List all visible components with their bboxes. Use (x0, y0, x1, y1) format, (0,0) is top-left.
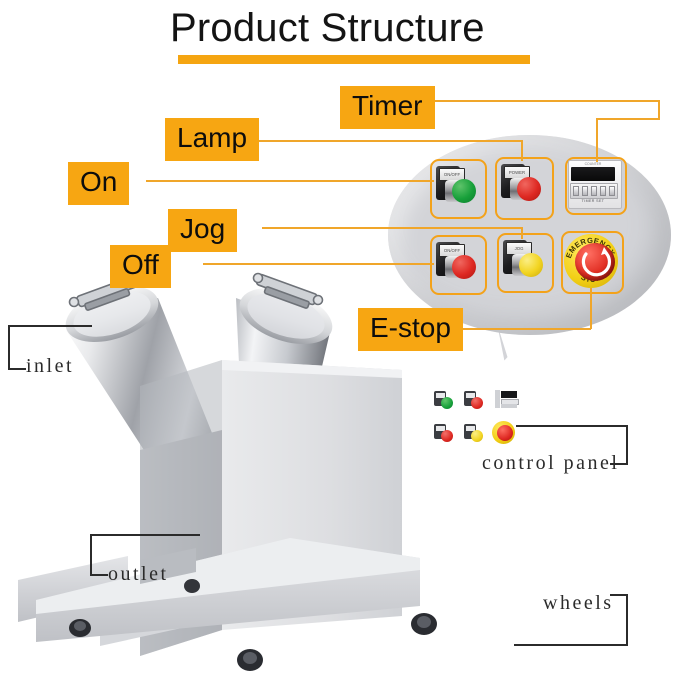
lamp-button-cap[interactable] (517, 177, 541, 201)
page-title: Product Structure (170, 6, 590, 51)
timer-led-screen (571, 167, 615, 181)
panel-green-button[interactable] (434, 390, 456, 412)
label-control-panel: control panel (482, 452, 619, 475)
off-button[interactable]: ON/OFF (434, 238, 480, 286)
panel-timer-display[interactable] (495, 390, 517, 410)
jog-button-cap[interactable] (519, 253, 543, 277)
jog-button[interactable]: JOG (501, 236, 547, 284)
panel-red-button-top[interactable] (464, 390, 486, 412)
panel-estop-button[interactable] (492, 421, 516, 445)
timer-digit[interactable] (573, 186, 579, 196)
lamp-button[interactable]: POWER (499, 160, 545, 208)
tag-timer[interactable]: Timer (340, 86, 435, 129)
tag-off[interactable]: Off (110, 245, 171, 288)
timer-digit[interactable] (591, 186, 597, 196)
on-button-cap[interactable] (452, 179, 476, 203)
off-button-cap[interactable] (452, 255, 476, 279)
timer-digit[interactable] (609, 186, 615, 196)
estop-reset-arrow (575, 243, 615, 281)
on-button[interactable]: ON/OFF (434, 162, 480, 210)
tag-lamp[interactable]: Lamp (165, 118, 259, 161)
timer-thumbwheels[interactable] (570, 183, 618, 199)
label-outlet: outlet (108, 563, 169, 586)
panel-red-button-bottom[interactable] (434, 423, 456, 445)
timer-bottom-label: TIMER SET (571, 198, 615, 205)
timer-display[interactable]: COUNTER TIMER SET (568, 160, 620, 207)
tag-jog[interactable]: Jog (168, 209, 237, 252)
label-inlet: inlet (26, 355, 74, 378)
label-wheels: wheels (543, 592, 614, 615)
product-structure-diagram: Product Structure (0, 0, 700, 700)
tag-estop[interactable]: E-stop (358, 308, 463, 351)
estop-button[interactable]: EMERGENCY STOP (564, 234, 618, 288)
timer-digit[interactable] (582, 186, 588, 196)
title-underline (178, 55, 530, 64)
tag-on[interactable]: On (68, 162, 129, 205)
machine-control-panel[interactable] (434, 390, 524, 450)
timer-digit[interactable] (600, 186, 606, 196)
panel-yellow-button[interactable] (464, 423, 486, 445)
